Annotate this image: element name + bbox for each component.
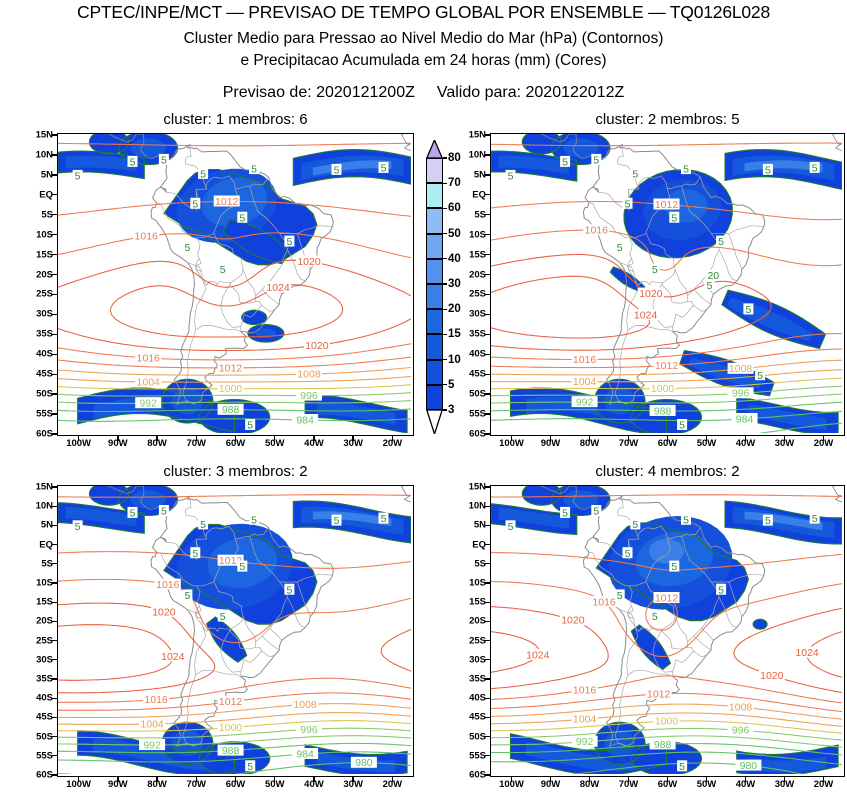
svg-text:980: 980 bbox=[355, 757, 373, 769]
x-axis-tick-mark bbox=[784, 777, 785, 782]
y-axis-tick-label: 10N bbox=[36, 501, 53, 512]
svg-text:1016: 1016 bbox=[592, 597, 616, 609]
y-axis-tick-label: 50S bbox=[469, 389, 486, 400]
y-axis-tick-label: 20S bbox=[36, 269, 53, 280]
y-axis-tick-mark bbox=[52, 755, 57, 756]
y-axis-tick-mark bbox=[52, 563, 57, 564]
x-axis-tick-mark bbox=[628, 436, 629, 441]
y-axis-tick-label: 15S bbox=[469, 249, 486, 260]
x-axis-tick-mark bbox=[628, 777, 629, 782]
x-axis-tick-mark bbox=[550, 777, 551, 782]
y-axis-tick-label: 15S bbox=[36, 597, 53, 608]
cluster-panel-title-3: cluster: 3 membros: 2 bbox=[57, 463, 414, 480]
y-axis-tick-label: 55S bbox=[36, 409, 53, 420]
svg-text:1008: 1008 bbox=[729, 702, 753, 714]
y-axis-tick-mark bbox=[485, 659, 490, 660]
y-axis-tick-mark bbox=[485, 194, 490, 195]
colorbar-tick-mark bbox=[443, 334, 447, 335]
colorbar-tick-label: 15 bbox=[448, 328, 461, 340]
svg-text:5: 5 bbox=[812, 513, 818, 525]
x-axis-tick-mark bbox=[667, 777, 668, 782]
y-axis-tick-mark bbox=[485, 393, 490, 394]
figure-subtitle-1: Cluster Medio para Pressao ao Nivel Medi… bbox=[0, 30, 847, 48]
svg-text:5: 5 bbox=[75, 521, 81, 533]
y-axis-tick-mark bbox=[485, 433, 490, 434]
cluster-panel-2: cluster: 2 membros: 59849889929961000100… bbox=[490, 133, 845, 436]
y-axis-tick-label: 40S bbox=[469, 349, 486, 360]
svg-text:5: 5 bbox=[508, 171, 514, 183]
svg-text:5: 5 bbox=[671, 212, 677, 224]
x-axis-tick-mark bbox=[784, 436, 785, 441]
svg-text:1024: 1024 bbox=[526, 650, 550, 662]
x-axis-tick-mark bbox=[706, 777, 707, 782]
svg-text:5: 5 bbox=[706, 280, 712, 292]
svg-text:5: 5 bbox=[247, 420, 253, 432]
colorbar-tick-mark bbox=[443, 283, 447, 284]
svg-text:1020: 1020 bbox=[297, 256, 321, 268]
map-plot-area-2: 9849889929961000100410081012101210161016… bbox=[490, 133, 845, 436]
svg-text:1020: 1020 bbox=[760, 670, 784, 682]
y-axis-tick-label: 55S bbox=[469, 750, 486, 761]
figure-title: CPTEC/INPE/MCT — PREVISAO DE TEMPO GLOBA… bbox=[0, 2, 847, 23]
svg-text:5: 5 bbox=[381, 513, 387, 525]
y-axis-tick-mark bbox=[52, 544, 57, 545]
svg-text:5: 5 bbox=[617, 242, 623, 254]
y-axis-tick-label: 60S bbox=[469, 770, 486, 781]
cluster-panel-4: cluster: 4 membros: 29809889929961000100… bbox=[490, 485, 845, 777]
map-plot-area-1: 9849889929961000100410081012101210161016… bbox=[57, 133, 414, 436]
y-axis-tick-mark bbox=[485, 755, 490, 756]
svg-text:5: 5 bbox=[184, 242, 190, 254]
y-axis-tick-mark bbox=[52, 354, 57, 355]
svg-text:992: 992 bbox=[576, 736, 594, 748]
svg-text:984: 984 bbox=[736, 413, 754, 425]
colorbar-tick-label: 50 bbox=[448, 228, 461, 240]
y-axis-tick-mark bbox=[52, 698, 57, 699]
y-axis-tick-mark bbox=[485, 698, 490, 699]
y-axis-tick-mark bbox=[52, 374, 57, 375]
svg-text:996: 996 bbox=[732, 388, 750, 400]
y-axis-tick-label: 15N bbox=[36, 482, 53, 493]
x-axis-tick-mark bbox=[117, 436, 118, 441]
y-axis-tick-label: 60S bbox=[469, 429, 486, 440]
colorbar-band bbox=[426, 259, 443, 284]
y-axis-tick-label: EQ bbox=[472, 539, 486, 550]
svg-text:5: 5 bbox=[765, 165, 771, 177]
svg-text:1020: 1020 bbox=[561, 615, 585, 627]
y-axis-tick-mark bbox=[485, 214, 490, 215]
y-axis-tick-label: 15S bbox=[469, 597, 486, 608]
y-axis-tick-mark bbox=[52, 774, 57, 775]
x-axis-tick-mark bbox=[235, 436, 236, 441]
y-axis-tick-label: 45S bbox=[469, 712, 486, 723]
svg-text:1008: 1008 bbox=[297, 369, 321, 381]
x-axis-tick-mark bbox=[78, 777, 79, 782]
svg-text:1000: 1000 bbox=[219, 383, 243, 395]
y-axis-tick-mark bbox=[485, 154, 490, 155]
colorbar-tick-mark bbox=[443, 359, 447, 360]
colorbar-band bbox=[426, 183, 443, 208]
colorbar-tick-label: 30 bbox=[448, 278, 461, 290]
svg-text:992: 992 bbox=[576, 397, 594, 409]
colorbar-under-arrow bbox=[426, 410, 443, 434]
y-axis-tick-label: 15S bbox=[36, 249, 53, 260]
y-axis-tick-label: EQ bbox=[39, 189, 53, 200]
y-axis-tick-mark bbox=[485, 134, 490, 135]
y-axis-tick-label: 50S bbox=[36, 731, 53, 742]
y-axis-tick-mark bbox=[485, 621, 490, 622]
y-axis-tick-label: 25S bbox=[36, 635, 53, 646]
svg-text:1016: 1016 bbox=[156, 579, 180, 591]
svg-text:5: 5 bbox=[286, 584, 292, 596]
y-axis-tick-label: 55S bbox=[469, 409, 486, 420]
colorbar-band bbox=[426, 158, 443, 183]
y-axis-tick-mark bbox=[52, 736, 57, 737]
x-axis-tick-mark bbox=[706, 436, 707, 441]
y-axis-tick-mark bbox=[485, 294, 490, 295]
x-axis-tick-mark bbox=[589, 436, 590, 441]
svg-text:5: 5 bbox=[286, 236, 292, 248]
svg-text:5: 5 bbox=[562, 157, 568, 169]
svg-text:1012: 1012 bbox=[219, 696, 243, 708]
y-axis-tick-mark bbox=[52, 314, 57, 315]
y-axis-tick-mark bbox=[485, 174, 490, 175]
svg-text:1020: 1020 bbox=[639, 288, 663, 300]
y-axis-tick-mark bbox=[52, 274, 57, 275]
svg-text:5: 5 bbox=[683, 514, 689, 526]
svg-text:1004: 1004 bbox=[573, 376, 597, 388]
colorbar-tick-mark bbox=[443, 384, 447, 385]
x-axis-tick-mark bbox=[823, 436, 824, 441]
svg-text:5: 5 bbox=[718, 236, 724, 248]
y-axis-tick-mark bbox=[485, 274, 490, 275]
svg-text:980: 980 bbox=[740, 760, 758, 772]
y-axis-tick-mark bbox=[52, 134, 57, 135]
svg-text:5: 5 bbox=[192, 198, 198, 210]
y-axis-tick-mark bbox=[52, 334, 57, 335]
y-axis-tick-label: EQ bbox=[472, 189, 486, 200]
svg-text:1004: 1004 bbox=[573, 714, 597, 726]
map-plot-area-3: 9809849889929961000100410081012101210161… bbox=[57, 485, 414, 777]
colorbar-tick-label: 10 bbox=[448, 354, 461, 366]
svg-text:5: 5 bbox=[683, 164, 689, 176]
svg-text:1012: 1012 bbox=[647, 688, 671, 700]
svg-text:5: 5 bbox=[593, 506, 599, 518]
x-axis-tick-mark bbox=[196, 777, 197, 782]
y-axis-tick-mark bbox=[485, 234, 490, 235]
svg-text:5: 5 bbox=[334, 165, 340, 177]
svg-text:5: 5 bbox=[251, 514, 257, 526]
svg-text:1016: 1016 bbox=[137, 352, 161, 364]
svg-text:5: 5 bbox=[812, 163, 818, 175]
y-axis-tick-label: 10N bbox=[36, 149, 53, 160]
svg-text:5: 5 bbox=[251, 164, 257, 176]
svg-text:5: 5 bbox=[239, 561, 245, 573]
svg-text:1000: 1000 bbox=[651, 383, 675, 395]
svg-text:5: 5 bbox=[508, 521, 514, 533]
x-axis-tick-mark bbox=[274, 777, 275, 782]
y-axis-tick-label: 50S bbox=[36, 389, 53, 400]
y-axis-tick-mark bbox=[485, 334, 490, 335]
svg-text:1000: 1000 bbox=[655, 716, 679, 728]
colorbar-band bbox=[426, 234, 443, 259]
y-axis-tick-label: 20S bbox=[36, 616, 53, 627]
y-axis-tick-mark bbox=[485, 602, 490, 603]
svg-text:1000: 1000 bbox=[219, 722, 243, 734]
y-axis-tick-label: 30S bbox=[469, 309, 486, 320]
y-axis-tick-label: 25S bbox=[469, 289, 486, 300]
svg-text:1012: 1012 bbox=[215, 196, 239, 208]
y-axis-tick-mark bbox=[52, 525, 57, 526]
svg-text:5: 5 bbox=[220, 264, 226, 276]
svg-text:5: 5 bbox=[757, 370, 763, 382]
y-axis-tick-label: 20S bbox=[469, 269, 486, 280]
colorbar-band bbox=[426, 309, 443, 334]
x-axis-tick-mark bbox=[274, 436, 275, 441]
x-axis-tick-mark bbox=[156, 777, 157, 782]
y-axis-tick-mark bbox=[52, 621, 57, 622]
y-axis-tick-mark bbox=[52, 659, 57, 660]
y-axis-tick-mark bbox=[485, 413, 490, 414]
colorbar-tick-label: 3 bbox=[448, 404, 454, 416]
svg-text:5: 5 bbox=[679, 761, 685, 773]
y-axis-tick-mark bbox=[52, 294, 57, 295]
y-axis-tick-mark bbox=[52, 413, 57, 414]
svg-text:1012: 1012 bbox=[219, 362, 243, 374]
x-axis-tick-mark bbox=[196, 436, 197, 441]
svg-text:5: 5 bbox=[381, 163, 387, 175]
x-axis-tick-mark bbox=[78, 436, 79, 441]
cluster-panel-title-2: cluster: 2 membros: 5 bbox=[490, 111, 845, 128]
x-axis-tick-mark bbox=[392, 436, 393, 441]
svg-text:992: 992 bbox=[143, 739, 161, 751]
x-axis-tick-mark bbox=[392, 777, 393, 782]
svg-text:1012: 1012 bbox=[655, 360, 679, 372]
y-axis-tick-label: 45S bbox=[36, 369, 53, 380]
y-axis-tick-label: 55S bbox=[36, 750, 53, 761]
x-axis-tick-mark bbox=[313, 777, 314, 782]
y-axis-tick-mark bbox=[485, 314, 490, 315]
colorbar-tick-mark bbox=[443, 208, 447, 209]
y-axis-tick-label: 60S bbox=[36, 429, 53, 440]
svg-text:5: 5 bbox=[247, 761, 253, 773]
cluster-panel-title-1: cluster: 1 membros: 6 bbox=[57, 111, 414, 128]
y-axis-tick-mark bbox=[485, 544, 490, 545]
svg-text:988: 988 bbox=[654, 739, 672, 751]
svg-text:5: 5 bbox=[679, 420, 685, 432]
y-axis-tick-mark bbox=[485, 717, 490, 718]
svg-text:1004: 1004 bbox=[137, 376, 161, 388]
colorbar-tick-mark bbox=[443, 258, 447, 259]
svg-text:988: 988 bbox=[654, 405, 672, 417]
svg-text:5: 5 bbox=[593, 155, 599, 167]
x-axis-tick-mark bbox=[235, 777, 236, 782]
svg-text:1020: 1020 bbox=[305, 340, 329, 352]
colorbar-band bbox=[426, 208, 443, 233]
colorbar-tick-mark bbox=[443, 157, 447, 158]
y-axis-tick-mark bbox=[52, 717, 57, 718]
y-axis-tick-label: 15N bbox=[36, 130, 53, 141]
map-plot-area-4: 9809889929961000100410081012101210161016… bbox=[490, 485, 845, 777]
y-axis-tick-mark bbox=[485, 736, 490, 737]
x-axis-tick-mark bbox=[117, 777, 118, 782]
y-axis-tick-label: 20S bbox=[469, 616, 486, 627]
svg-text:5: 5 bbox=[671, 561, 677, 573]
y-axis-tick-mark bbox=[52, 194, 57, 195]
svg-text:1016: 1016 bbox=[135, 231, 159, 243]
svg-text:5: 5 bbox=[617, 590, 623, 602]
y-axis-tick-label: 45S bbox=[469, 369, 486, 380]
y-axis-tick-label: 35S bbox=[469, 329, 486, 340]
svg-text:1016: 1016 bbox=[144, 694, 168, 706]
colorbar-tick-mark bbox=[443, 183, 447, 184]
precipitation-colorbar: 80706050403020151053 bbox=[426, 158, 443, 410]
y-axis-tick-mark bbox=[485, 486, 490, 487]
svg-text:1012: 1012 bbox=[655, 592, 679, 604]
x-axis-tick-mark bbox=[352, 777, 353, 782]
y-axis-tick-mark bbox=[52, 154, 57, 155]
colorbar-band bbox=[426, 334, 443, 359]
y-axis-tick-label: 60S bbox=[36, 770, 53, 781]
svg-text:1024: 1024 bbox=[266, 282, 290, 294]
y-axis-tick-label: 35S bbox=[36, 329, 53, 340]
svg-text:5: 5 bbox=[75, 171, 81, 183]
svg-text:5: 5 bbox=[632, 519, 638, 531]
svg-text:1016: 1016 bbox=[573, 684, 597, 696]
y-axis-tick-mark bbox=[485, 254, 490, 255]
y-axis-tick-mark bbox=[52, 678, 57, 679]
y-axis-tick-label: 40S bbox=[36, 693, 53, 704]
y-axis-tick-label: EQ bbox=[39, 539, 53, 550]
x-axis-tick-mark bbox=[745, 777, 746, 782]
svg-text:996: 996 bbox=[732, 725, 750, 737]
y-axis-tick-label: 25S bbox=[469, 635, 486, 646]
y-axis-tick-mark bbox=[52, 254, 57, 255]
y-axis-tick-label: 15N bbox=[469, 482, 486, 493]
forecast-figure: CPTEC/INPE/MCT — PREVISAO DE TEMPO GLOBA… bbox=[0, 0, 847, 803]
svg-text:5: 5 bbox=[239, 212, 245, 224]
svg-text:1024: 1024 bbox=[161, 651, 185, 663]
y-axis-tick-mark bbox=[52, 433, 57, 434]
y-axis-tick-label: 30S bbox=[36, 309, 53, 320]
svg-text:1016: 1016 bbox=[585, 225, 609, 237]
svg-text:1024: 1024 bbox=[634, 309, 658, 321]
svg-text:996: 996 bbox=[300, 724, 318, 736]
y-axis-tick-mark bbox=[52, 486, 57, 487]
svg-text:1016: 1016 bbox=[573, 354, 597, 366]
y-axis-tick-mark bbox=[485, 678, 490, 679]
colorbar-band bbox=[426, 385, 443, 410]
y-axis-tick-mark bbox=[52, 506, 57, 507]
x-axis-tick-mark bbox=[511, 777, 512, 782]
colorbar-tick-label: 70 bbox=[448, 177, 461, 189]
svg-text:5: 5 bbox=[130, 157, 136, 169]
colorbar-tick-label: 5 bbox=[448, 379, 454, 391]
colorbar-tick-mark bbox=[443, 309, 447, 310]
y-axis-tick-mark bbox=[485, 354, 490, 355]
svg-text:1012: 1012 bbox=[655, 199, 679, 211]
y-axis-tick-mark bbox=[485, 374, 490, 375]
svg-text:5: 5 bbox=[161, 155, 167, 167]
x-axis-tick-mark bbox=[589, 777, 590, 782]
x-axis-tick-mark bbox=[667, 436, 668, 441]
svg-text:5: 5 bbox=[130, 508, 136, 520]
svg-text:992: 992 bbox=[139, 398, 157, 410]
svg-text:984: 984 bbox=[296, 748, 314, 760]
y-axis-tick-label: 10S bbox=[469, 578, 486, 589]
y-axis-tick-mark bbox=[52, 393, 57, 394]
forecast-from-label: Previsao de: 2020121200Z bbox=[223, 84, 415, 101]
svg-text:1008: 1008 bbox=[293, 699, 317, 711]
svg-text:5: 5 bbox=[184, 590, 190, 602]
svg-text:5: 5 bbox=[562, 508, 568, 520]
colorbar-tick-mark bbox=[443, 409, 447, 410]
y-axis-tick-label: 10N bbox=[469, 149, 486, 160]
y-axis-tick-mark bbox=[485, 582, 490, 583]
y-axis-tick-label: 45S bbox=[36, 712, 53, 723]
x-axis-tick-mark bbox=[550, 436, 551, 441]
cluster-panel-title-4: cluster: 4 membros: 2 bbox=[490, 463, 845, 480]
y-axis-tick-mark bbox=[485, 774, 490, 775]
cluster-panel-3: cluster: 3 membros: 29809849889929961000… bbox=[57, 485, 414, 777]
svg-text:5: 5 bbox=[200, 169, 206, 181]
colorbar-tick-label: 80 bbox=[448, 152, 461, 164]
colorbar-band bbox=[426, 284, 443, 309]
y-axis-tick-label: 15N bbox=[469, 130, 486, 141]
y-axis-tick-mark bbox=[485, 506, 490, 507]
x-axis-tick-mark bbox=[745, 436, 746, 441]
y-axis-tick-label: 40S bbox=[469, 693, 486, 704]
colorbar-tick-label: 60 bbox=[448, 202, 461, 214]
y-axis-tick-mark bbox=[52, 234, 57, 235]
colorbar-tick-label: 40 bbox=[448, 253, 461, 265]
colorbar-over-arrow bbox=[426, 140, 443, 158]
mslp-contour-labels: 9809889929961000100410081012101210161016… bbox=[525, 592, 820, 772]
svg-text:5: 5 bbox=[192, 548, 198, 560]
colorbar-tick-mark bbox=[443, 233, 447, 234]
svg-text:1004: 1004 bbox=[140, 718, 164, 730]
colorbar-tick-label: 20 bbox=[448, 303, 461, 315]
y-axis-tick-label: 35S bbox=[469, 674, 486, 685]
svg-text:5: 5 bbox=[652, 264, 658, 276]
cluster-panel-1: cluster: 1 membros: 69849889929961000100… bbox=[57, 133, 414, 436]
y-axis-tick-label: 10N bbox=[469, 501, 486, 512]
svg-text:5: 5 bbox=[745, 304, 751, 316]
y-axis-tick-label: 35S bbox=[36, 674, 53, 685]
y-axis-tick-mark bbox=[52, 214, 57, 215]
svg-text:984: 984 bbox=[296, 414, 314, 426]
svg-text:1020: 1020 bbox=[152, 607, 176, 619]
y-axis-tick-label: 10S bbox=[36, 229, 53, 240]
svg-text:5: 5 bbox=[632, 169, 638, 181]
y-axis-tick-label: 10S bbox=[36, 578, 53, 589]
svg-text:5: 5 bbox=[161, 506, 167, 518]
y-axis-tick-mark bbox=[52, 582, 57, 583]
figure-date-line: Previsao de: 2020121200ZValido para: 202… bbox=[0, 84, 847, 102]
svg-text:5: 5 bbox=[625, 548, 631, 560]
x-axis-tick-mark bbox=[156, 436, 157, 441]
svg-text:5: 5 bbox=[200, 519, 206, 531]
colorbar-band bbox=[426, 360, 443, 385]
y-axis-tick-label: 40S bbox=[36, 349, 53, 360]
x-axis-tick-mark bbox=[352, 436, 353, 441]
svg-text:5: 5 bbox=[334, 515, 340, 527]
y-axis-tick-mark bbox=[485, 525, 490, 526]
y-axis-tick-label: 10S bbox=[469, 229, 486, 240]
precipitation-shading bbox=[491, 486, 842, 774]
svg-text:1008: 1008 bbox=[729, 363, 753, 375]
y-axis-tick-mark bbox=[485, 563, 490, 564]
